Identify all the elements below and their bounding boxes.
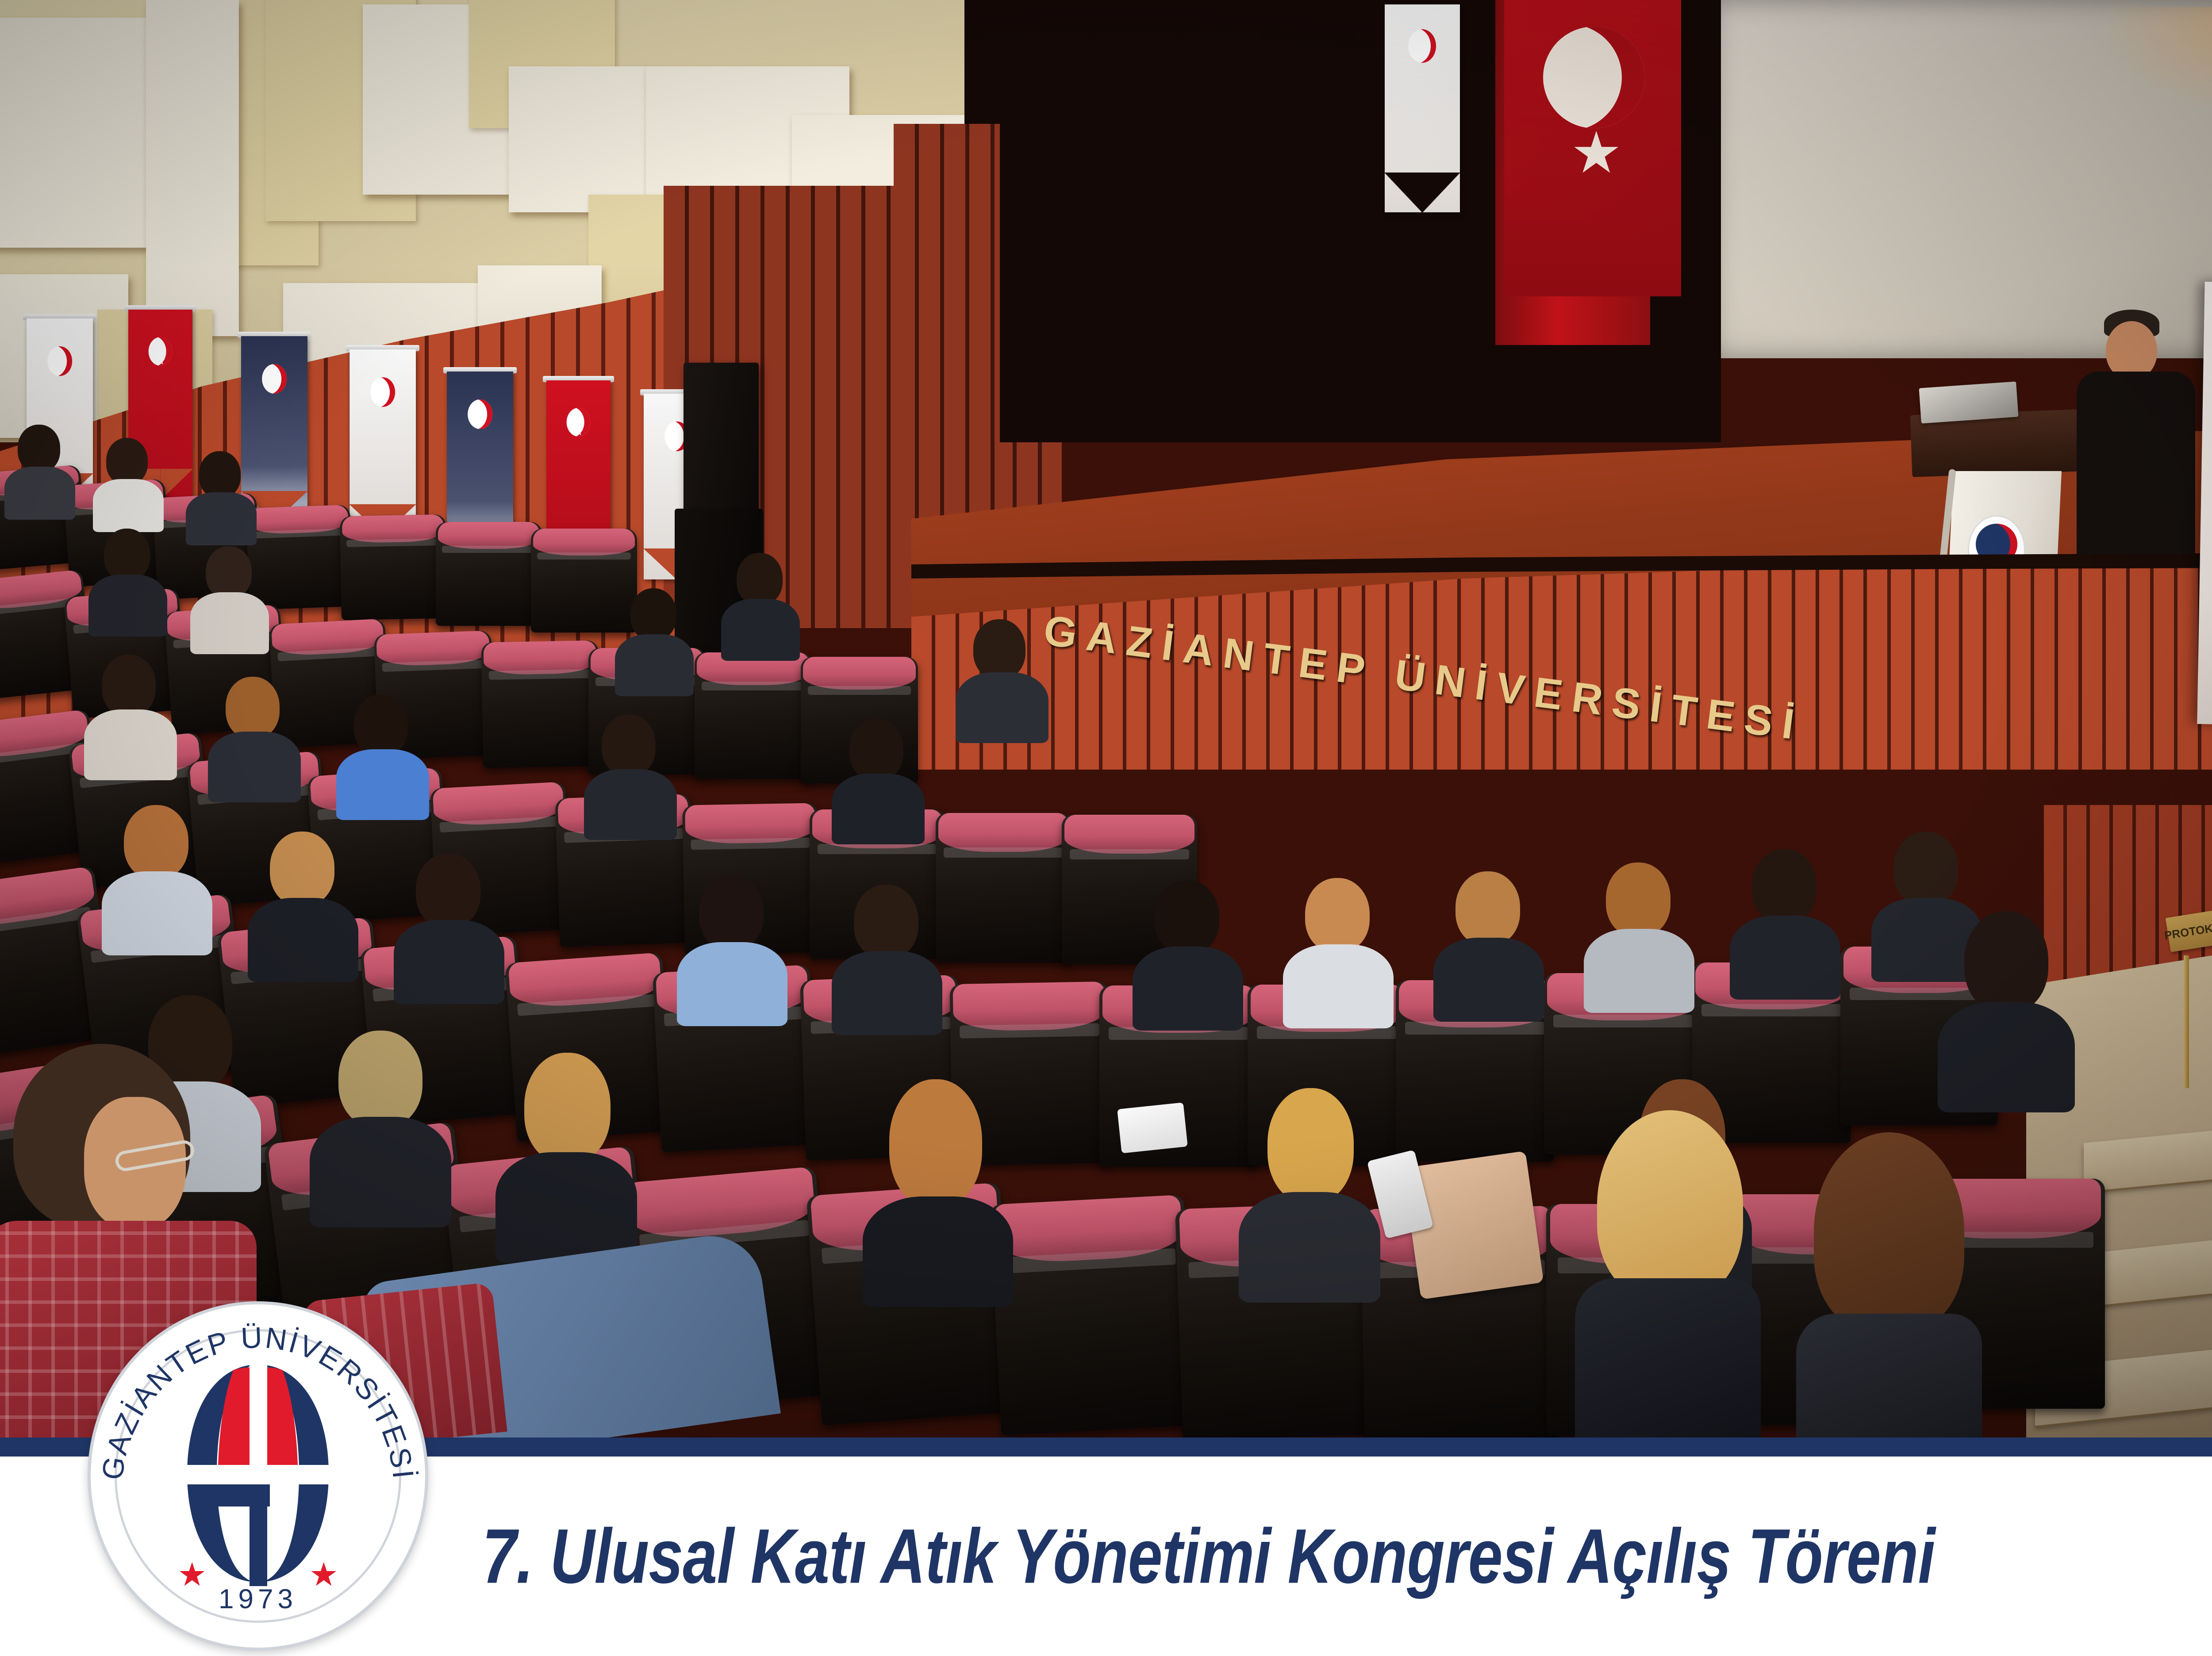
audience-member <box>336 694 425 805</box>
audience-member <box>495 1053 633 1230</box>
wall-panel <box>146 0 239 336</box>
gaziantep-universitesi-logo-icon <box>1398 18 1447 76</box>
rollup-date: 14 - 16 Ekim 2015 <box>2208 670 2212 685</box>
crescent-star-icon: ★ <box>558 398 599 447</box>
audience-member <box>721 553 796 646</box>
gaziantep-universitesi-seal: GAZİANTEP ÜNİVERSİTESİ ★ ★ 1973 <box>88 1301 428 1651</box>
projection-screen <box>1712 0 2212 358</box>
audience-member <box>4 425 71 509</box>
audience-member <box>1584 862 1690 995</box>
gaziantep-universitesi-logo-icon <box>361 367 404 418</box>
hair <box>1814 1132 1964 1331</box>
audience-member <box>102 805 208 938</box>
pennant-notch <box>1385 172 1460 212</box>
seat <box>695 652 812 779</box>
rollup-city: GAZİANTEP <box>2208 685 2212 700</box>
audience-member <box>84 655 173 765</box>
wall-panel <box>469 0 615 128</box>
jacket <box>1575 1278 1761 1437</box>
audience-member <box>208 677 296 787</box>
seat <box>990 1195 1196 1435</box>
gaziantep-universitesi-logo-icon <box>253 354 296 405</box>
audience-member <box>88 529 164 621</box>
seat <box>340 514 448 620</box>
hair <box>1597 1110 1743 1300</box>
smartphone <box>1117 1102 1188 1153</box>
audience-member <box>93 438 159 522</box>
audience-member <box>677 876 783 1008</box>
audience-member <box>832 885 938 1017</box>
audience-member <box>1239 1088 1376 1274</box>
star-icon: ★ <box>1571 124 1622 181</box>
foreground-person <box>1796 1132 1982 1437</box>
gaziantep-universitesi-logo-icon <box>459 389 501 440</box>
wall-panel <box>509 66 646 212</box>
audience-member <box>186 451 252 535</box>
audience-member <box>1938 911 2070 1088</box>
audience-member <box>1433 871 1540 1004</box>
gaziantep-universitesi-logo-icon <box>38 336 81 387</box>
audience-member <box>310 1031 447 1207</box>
wall-panel <box>186 0 319 265</box>
audience-member <box>863 1079 1009 1274</box>
globe-g-emblem-icon <box>163 1361 353 1587</box>
crescent-icon <box>1543 27 1645 128</box>
protokol-sign-post <box>2184 955 2189 1088</box>
screenshot-frame: ★ <box>0 0 2212 1656</box>
foreground-person <box>1575 1110 1761 1437</box>
wall-panel <box>265 0 416 221</box>
stage-pennant-gau <box>1385 4 1460 212</box>
audience-member <box>248 832 354 964</box>
head <box>2106 321 2157 379</box>
turkish-flag: ★ <box>1504 0 1681 296</box>
audience-member <box>832 719 920 829</box>
caption-title: 7. Ulusal Katı Atık Yönetimi Kongresi Aç… <box>482 1512 1935 1601</box>
audience-member <box>615 588 690 681</box>
screen-light-glow <box>2096 7 2212 115</box>
laptop <box>1919 381 2018 423</box>
audience-member <box>1133 880 1239 1013</box>
audience-member <box>394 854 500 986</box>
jacket <box>1796 1314 1982 1437</box>
audience-member <box>190 546 265 639</box>
seat <box>481 640 601 768</box>
seat <box>436 522 542 626</box>
audience-member <box>1283 878 1389 1011</box>
crescent-star-icon: ★ <box>140 327 181 376</box>
conference-photograph: ★ <box>0 0 2212 1437</box>
audience-member <box>584 714 672 825</box>
wall-panel <box>0 18 221 248</box>
audience-member <box>956 619 1044 730</box>
pennant-gau-white <box>349 349 416 535</box>
seat <box>936 813 1071 962</box>
audience-member <box>1730 849 1836 982</box>
seal-year: 1973 <box>91 1583 425 1615</box>
wall-panel <box>363 4 540 195</box>
